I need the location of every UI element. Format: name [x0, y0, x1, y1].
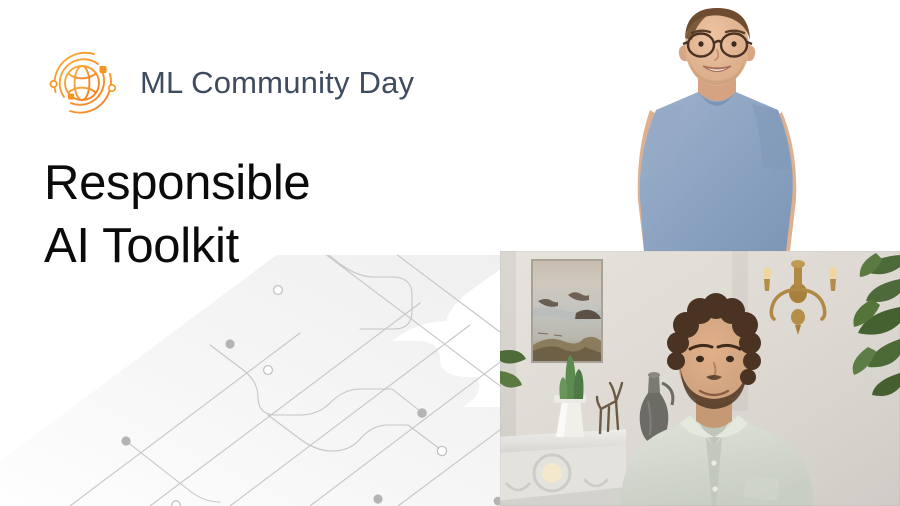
decor-band-shape [0, 255, 520, 506]
brand-lockup: ML Community Day [40, 40, 414, 124]
brand-name: ML Community Day [140, 67, 414, 98]
orbiting-globe-icon [40, 40, 124, 124]
marble-mantle [500, 429, 626, 506]
page-title-line-2: AI Toolkit [44, 215, 474, 278]
page-title-line-1: Responsible [44, 152, 474, 215]
webcam-video-feed[interactable] [500, 251, 900, 506]
seascape-painting [531, 259, 603, 363]
slide-canvas: ML Community Day Responsible AI Toolkit [0, 0, 900, 506]
page-title: Responsible AI Toolkit [44, 152, 474, 277]
presenter-photo-cutout [600, 0, 900, 251]
circuit-node-filled [121, 255, 502, 505]
circuit-node-hollow [172, 286, 447, 506]
circuit-trace-pattern [0, 255, 520, 506]
